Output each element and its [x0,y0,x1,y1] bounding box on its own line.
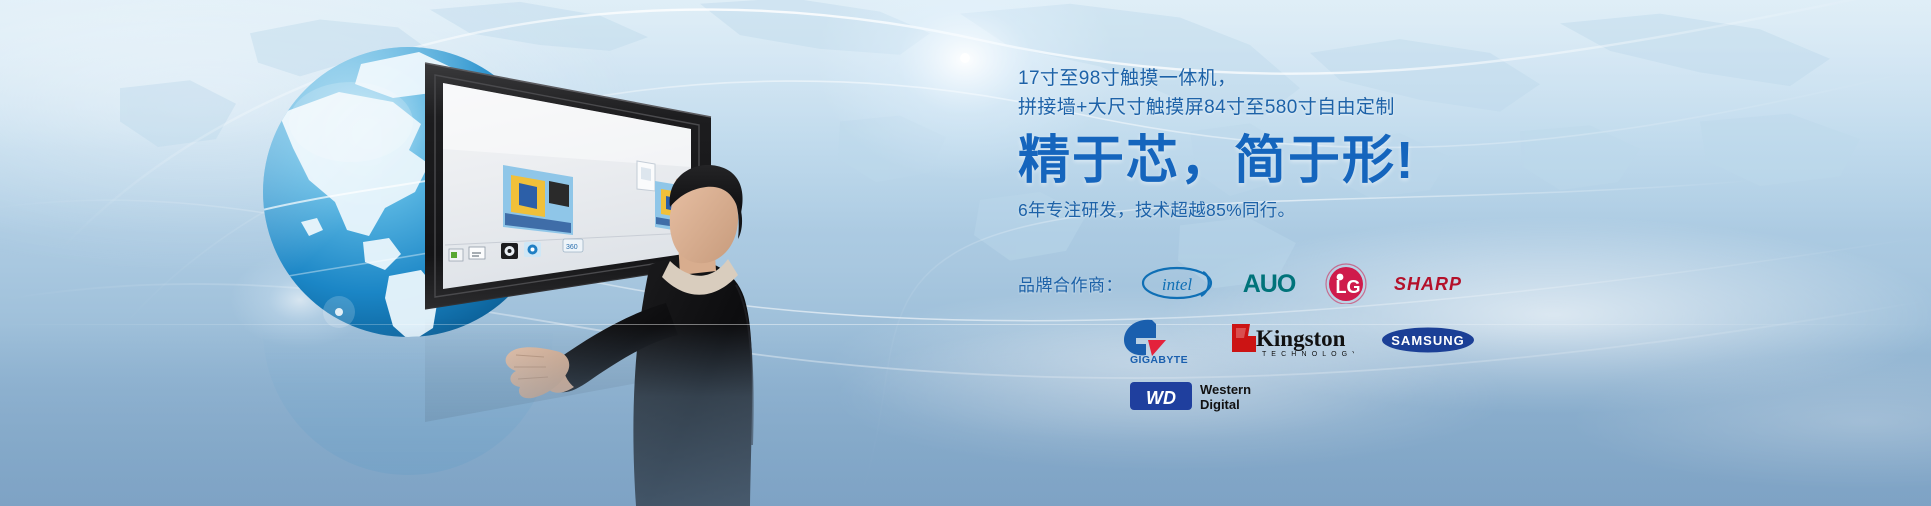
svg-text:LG: LG [1336,277,1361,297]
lead-line-2: 拼接墙+大尺寸触摸屏84寸至580寸自由定制 [1018,93,1538,122]
gigabyte-logo: GIGABYTE [1118,316,1200,364]
svg-text:WD: WD [1146,388,1176,408]
partner-row-1: 品牌合作商： intel intel AUO AUO LG LG [1018,262,1578,304]
page-title: 精于芯，简于形! [1018,131,1538,191]
app-icon-2 [469,247,485,259]
svg-text:SHARP: SHARP [1394,274,1462,294]
person-touching-screen [500,145,810,506]
partner-row-3: WD Western Digital WD Western Digital [1018,376,1578,416]
western-digital-logo: WD Western Digital [1128,376,1288,416]
svg-text:intel: intel [1162,275,1192,294]
auo-logo: AUO [1231,268,1307,298]
svg-text:Digital: Digital [1200,397,1240,412]
svg-text:T E C H N O L O G Y: T E C H N O L O G Y [1262,351,1354,358]
intel-logo: intel [1141,266,1213,300]
lead-line-1: 17寸至98寸触摸一体机， [1018,64,1538,93]
kingston-logo: Kingston T E C H N O L O G Y [1226,318,1354,362]
svg-text:Western: Western [1200,382,1251,397]
app-icon-1 [449,249,463,261]
partner-row-2: GIGABYTE GIGABYTE Kingston T E C H N O L… [1018,316,1578,364]
promo-banner: 360 [0,0,1931,506]
headline-block: 17寸至98寸触摸一体机， 拼接墙+大尺寸触摸屏84寸至580寸自由定制 精于芯… [1018,64,1538,223]
svg-text:AUO: AUO [1243,270,1296,298]
samsung-logo: SAMSUNG [1380,325,1476,355]
svg-text:Kingston: Kingston [1256,326,1346,351]
svg-text:SAMSUNG: SAMSUNG [1391,333,1464,348]
sharp-logo: SHARP [1385,270,1471,296]
partners-label: 品牌合作商： [1018,271,1123,296]
floor-reflection [0,324,1931,506]
sub-line: 6年专注研发，技术超越85%同行。 [1018,197,1538,223]
svg-text:GIGABYTE: GIGABYTE [1130,354,1188,364]
lg-logo: LG [1325,262,1367,304]
brand-partners: 品牌合作商： intel intel AUO AUO LG LG [1018,262,1578,416]
